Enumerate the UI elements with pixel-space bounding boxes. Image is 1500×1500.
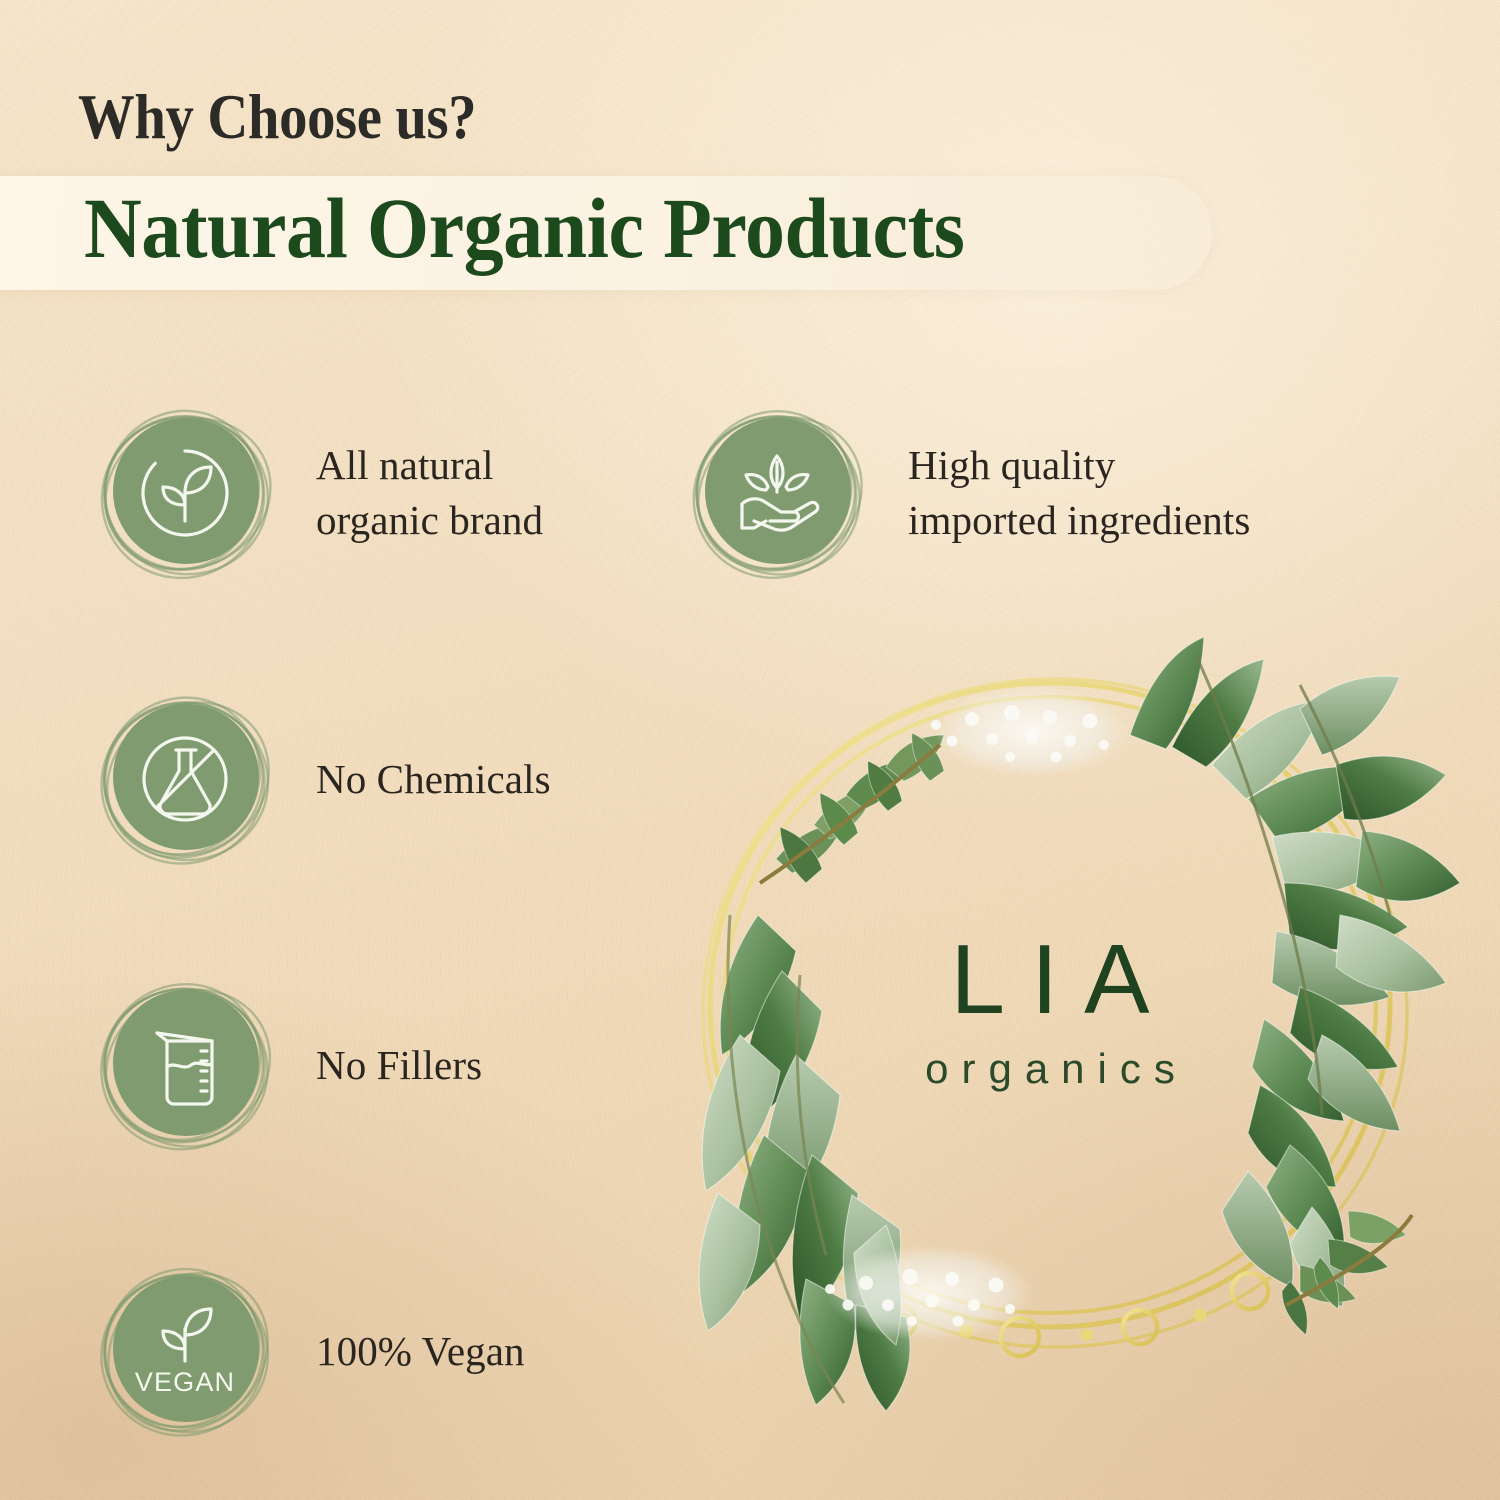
brand-tagline: organics (855, 1048, 1245, 1090)
no-chemicals-flask-icon (96, 690, 274, 868)
feature-badge (688, 404, 866, 582)
olive-sprig-topleft (760, 733, 944, 883)
sprout-in-circle-icon (96, 404, 274, 582)
feature-item-high-quality: High quality imported ingredients (688, 404, 1250, 582)
feature-badge (96, 690, 274, 868)
poster-canvas: Why Choose us? Natural Organic Products (0, 0, 1500, 1500)
feature-label: 100% Vegan (316, 1324, 525, 1379)
kicker-text: Why Choose us? (78, 86, 476, 149)
feature-item-no-fillers: No Fillers (96, 976, 482, 1154)
hand-holding-leaves-icon (688, 404, 866, 582)
feature-label: No Fillers (316, 1038, 482, 1093)
feature-item-all-natural: All natural organic brand (96, 404, 543, 582)
feature-item-vegan: VEGAN 100% Vegan (96, 1262, 525, 1440)
feature-item-no-chemicals: No Chemicals (96, 690, 551, 868)
feature-label: High quality imported ingredients (908, 438, 1250, 547)
page-title: Natural Organic Products (84, 182, 964, 275)
feature-badge: VEGAN (96, 1262, 274, 1440)
vegan-icon-svg: VEGAN (129, 1295, 241, 1407)
feature-badge (96, 404, 274, 582)
feature-badge (96, 976, 274, 1154)
vegan-badge-text: VEGAN (135, 1367, 236, 1397)
brand-name: LIA (855, 930, 1245, 1028)
vegan-sprout-icon: VEGAN (96, 1262, 274, 1440)
beaker-icon (96, 976, 274, 1154)
brand-logo: LIA organics (855, 930, 1245, 1090)
feature-label: No Chemicals (316, 752, 551, 807)
feature-label: All natural organic brand (316, 438, 543, 547)
